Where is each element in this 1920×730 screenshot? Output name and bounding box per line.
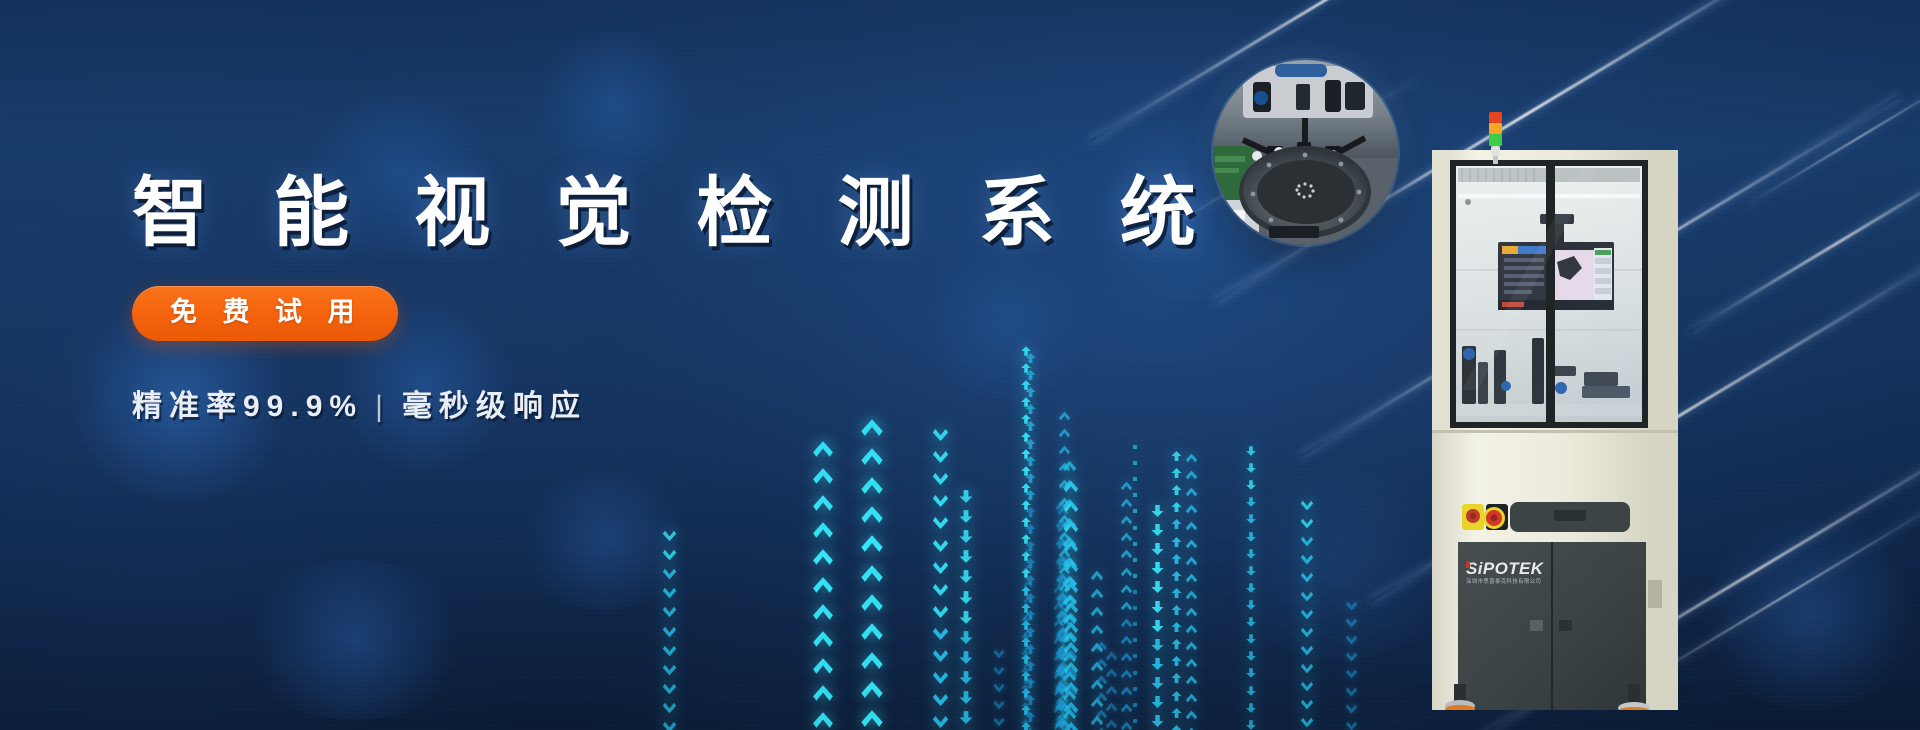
brand-logo-on-door: SiPOTEK 深圳市思普泰克科技有限公司 [1466, 559, 1545, 585]
hero-subline: 精准率99.9%|毫秒级响应 [132, 381, 1218, 425]
accuracy-text: 精准率99.9% [132, 390, 363, 423]
free-trial-button[interactable]: 免 费 试 用 [132, 286, 398, 341]
svg-text:SiPOTEK: SiPOTEK [1466, 559, 1545, 578]
glass-turntable-illustration [1213, 60, 1398, 245]
stack-light-tower [1487, 112, 1504, 164]
response-text: 毫秒级响应 [402, 390, 587, 423]
vision-module-inset-photo [1213, 60, 1398, 245]
svg-text:深圳市思普泰克科技有限公司: 深圳市思普泰克科技有限公司 [1466, 577, 1541, 585]
machine-illustration: SiPOTEK 深圳市思普泰克科技有限公司 [1432, 150, 1678, 710]
hero-banner: SiPOTEK 深圳市思普泰克科技有限公司 智 能 视 觉 检 测 系 统 免 … [0, 0, 1920, 730]
page-title: 智 能 视 觉 检 测 系 统 [132, 176, 1218, 252]
subline-separator: | [363, 390, 402, 423]
hero-copy-block: 智 能 视 觉 检 测 系 统 免 费 试 用 精准率99.9%|毫秒级响应 [132, 176, 1218, 425]
aoi-inspection-machine: SiPOTEK 深圳市思普泰克科技有限公司 [1432, 150, 1678, 710]
